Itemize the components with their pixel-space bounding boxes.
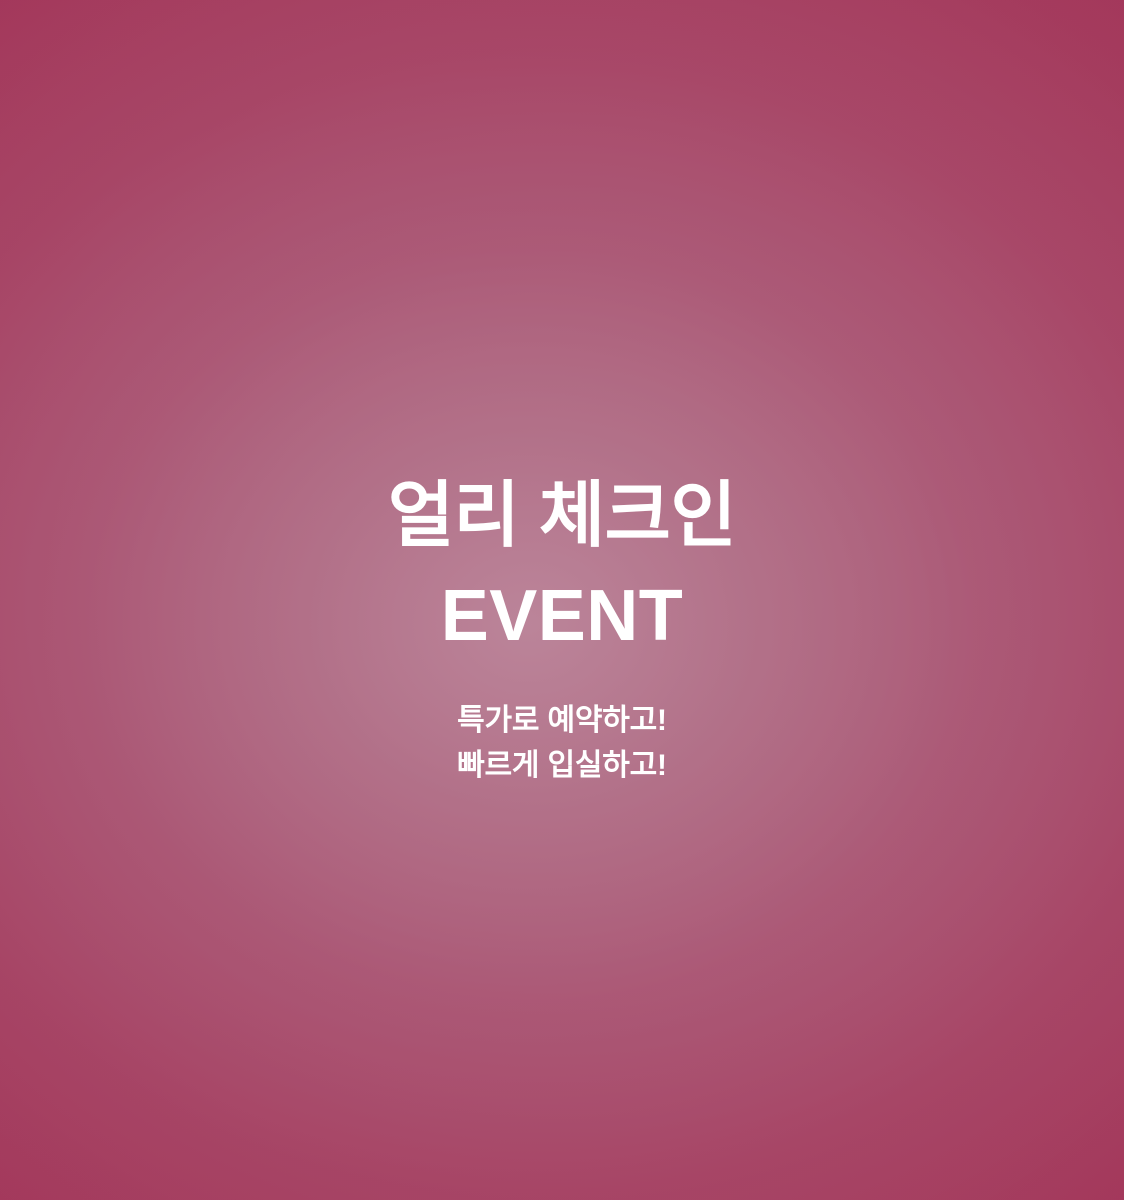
early-checkin-event-banner: 얼리 체크인 EVENT 특가로 예약하고! 빠르게 입실하고! [0,0,1124,1200]
banner-subcopy-line-1: 특가로 예약하고! [0,698,1124,743]
banner-headline-line-2: EVENT [0,566,1124,666]
banner-subcopy-line-2: 빠르게 입실하고! [0,743,1124,788]
banner-subcopy: 특가로 예약하고! 빠르게 입실하고! [0,698,1124,788]
banner-headline-line-1: 얼리 체크인 [0,466,1124,566]
banner-headline: 얼리 체크인 EVENT [0,466,1124,666]
banner-content: 얼리 체크인 EVENT 특가로 예약하고! 빠르게 입실하고! [0,0,1124,1200]
